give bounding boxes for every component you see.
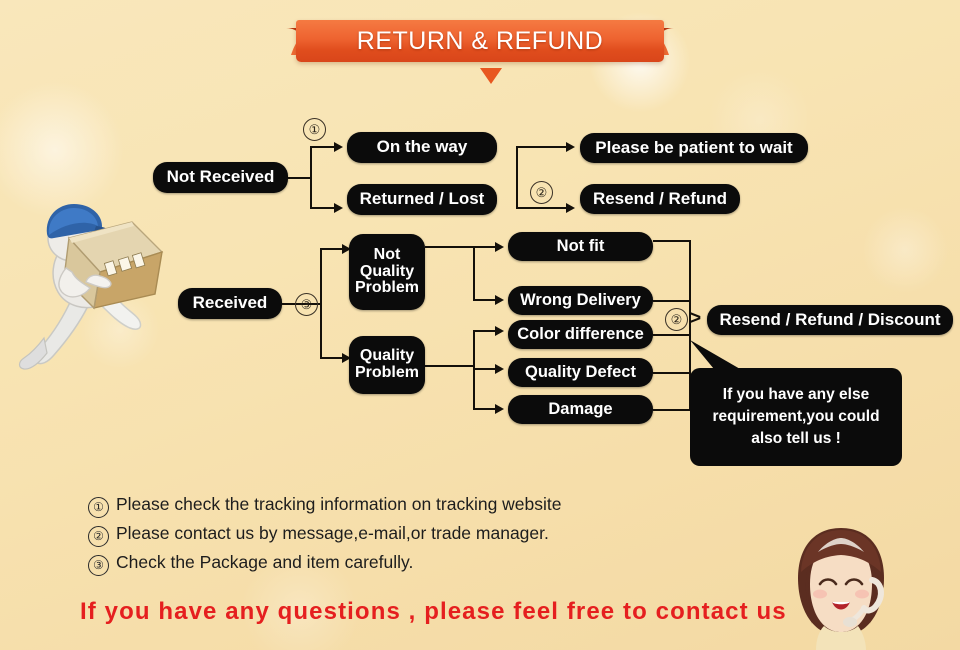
flow-box-label: Not fit: [557, 238, 605, 255]
connector-line: [653, 240, 691, 242]
connector-line: [473, 368, 497, 370]
arrow-head-icon: [495, 364, 504, 374]
promo-graphic-canvas: RETURN & REFUND: [0, 0, 960, 650]
banner-title: RETURN & REFUND: [296, 20, 664, 62]
connector-line: [653, 409, 691, 411]
flow-box-label: Wrong Delivery: [520, 292, 641, 309]
connector-line: [473, 246, 475, 300]
connector-line: [473, 299, 497, 301]
connector-line: [288, 177, 312, 179]
flow-box-final-outcome[interactable]: Resend / Refund / Discount: [707, 305, 953, 335]
connector-line: [653, 300, 691, 302]
flow-box-not-quality-problem[interactable]: Not Quality Problem: [349, 234, 425, 310]
bubble-line-1: If you have any else: [723, 384, 869, 406]
bubble-line-2: requirement,you could: [712, 406, 879, 428]
flow-box-label: Not Received: [167, 168, 275, 186]
connector-line: [310, 146, 336, 148]
flow-box-label: Color difference: [517, 326, 644, 343]
connector-line: [320, 357, 344, 359]
note-number: ②: [88, 526, 109, 547]
step-marker-1: ①: [303, 118, 326, 141]
flow-box-label: Returned / Lost: [360, 190, 485, 208]
connector-line: [310, 147, 312, 209]
delivery-person-icon: [14, 186, 184, 372]
connector-line: [516, 207, 568, 209]
connector-line: [473, 408, 497, 410]
note-text: Please contact us by message,e-mail,or t…: [116, 523, 549, 544]
footer-contact-text: If you have any questions , please feel …: [80, 598, 787, 626]
connector-line: [473, 330, 497, 332]
connector-line: [516, 146, 568, 148]
connector-line: [310, 207, 336, 209]
connector-line: [425, 365, 475, 367]
connector-line: [653, 372, 691, 374]
flow-box-label: Not Quality Problem: [355, 247, 419, 298]
arrow-head-icon: [566, 142, 575, 152]
note-number: ①: [88, 497, 109, 518]
arrow-head-icon: [566, 203, 575, 213]
flow-box-received[interactable]: Received: [178, 288, 282, 319]
flow-box-on-the-way[interactable]: On the way: [347, 132, 497, 163]
speech-bubble: If you have any else requirement,you cou…: [690, 368, 902, 466]
notes-list: ① Please check the tracking information …: [88, 494, 708, 581]
arrow-marker: >: [690, 308, 701, 330]
flow-box-label: Quality Problem: [355, 348, 419, 382]
note-text: Please check the tracking information on…: [116, 494, 562, 515]
list-item: ① Please check the tracking information …: [88, 494, 708, 518]
flow-box-not-received[interactable]: Not Received: [153, 162, 288, 193]
step-marker-2: ②: [530, 181, 553, 204]
arrow-head-icon: [334, 142, 343, 152]
arrow-head-icon: [495, 242, 504, 252]
arrow-head-icon: [495, 295, 504, 305]
customer-service-agent-icon: [786, 524, 896, 650]
list-item: ② Please contact us by message,e-mail,or…: [88, 523, 708, 547]
flow-box-please-be-patient[interactable]: Please be patient to wait: [580, 133, 808, 163]
connector-line: [516, 146, 518, 208]
arrow-head-icon: [334, 203, 343, 213]
flow-box-label: Resend / Refund / Discount: [719, 311, 940, 329]
banner: RETURN & REFUND: [268, 20, 692, 62]
flow-box-returned-lost[interactable]: Returned / Lost: [347, 184, 497, 215]
bubble-line-3: also tell us !: [751, 428, 841, 450]
flow-box-wrong-delivery[interactable]: Wrong Delivery: [508, 286, 653, 315]
arrow-head-icon: [495, 404, 504, 414]
note-number: ③: [88, 555, 109, 576]
connector-line: [320, 248, 344, 250]
step-marker-3: ③: [295, 293, 318, 316]
step-marker-2b: ②: [665, 308, 688, 331]
flow-box-label: Received: [193, 294, 268, 312]
flow-box-label: Please be patient to wait: [595, 139, 792, 157]
note-text: Check the Package and item carefully.: [116, 552, 413, 573]
flow-box-quality-defect[interactable]: Quality Defect: [508, 358, 653, 387]
connector-line: [425, 246, 475, 248]
arrow-head-icon: [495, 326, 504, 336]
connector-line: [653, 334, 691, 336]
flow-box-quality-problem[interactable]: Quality Problem: [349, 336, 425, 394]
down-triangle-icon: [480, 68, 502, 84]
connector-line: [473, 246, 497, 248]
flow-box-label: Resend / Refund: [593, 190, 727, 208]
flow-box-label: Damage: [548, 401, 612, 418]
flow-box-label: Quality Defect: [525, 364, 636, 381]
flow-box-resend-refund[interactable]: Resend / Refund: [580, 184, 740, 214]
flow-box-label: On the way: [377, 138, 468, 156]
connector-line: [320, 249, 322, 359]
connector-line: [473, 330, 475, 410]
flow-box-damage[interactable]: Damage: [508, 395, 653, 424]
flow-box-not-fit[interactable]: Not fit: [508, 232, 653, 261]
flow-box-color-difference[interactable]: Color difference: [508, 320, 653, 349]
list-item: ③ Check the Package and item carefully.: [88, 552, 708, 576]
